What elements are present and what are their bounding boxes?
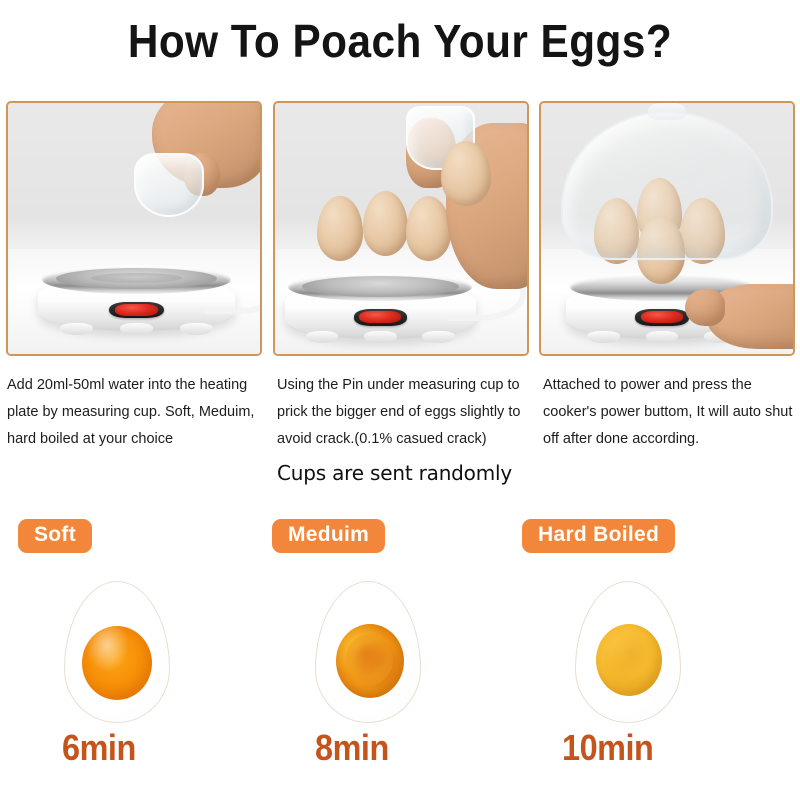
egg-cooker-water-photo (8, 103, 260, 354)
cooker-power-switch (635, 309, 689, 326)
page-title: How To Poach Your Eggs? (32, 14, 768, 68)
pricking-egg-photo (275, 103, 527, 354)
step-1-caption: Add 20ml-50ml water into the heating pla… (7, 372, 269, 453)
cups-random-note: Cups are sent randomly (277, 461, 512, 485)
dome-lid-knob (648, 103, 685, 120)
cooker-foot-right (422, 331, 455, 343)
doneness-badge-soft: Soft (18, 519, 92, 553)
cooker-foot-center (364, 331, 397, 343)
step-3-photo-panel (539, 101, 795, 356)
index-finger-tip (685, 289, 725, 327)
power-cord (205, 270, 260, 314)
measuring-cup (134, 153, 204, 217)
egg-in-tray (406, 196, 451, 261)
doneness-badge-hard-boiled: Hard Boiled (522, 519, 675, 553)
step-1-photo-panel (6, 101, 262, 356)
cooker-power-switch (354, 309, 408, 326)
step-2-caption: Using the Pin under measuring cup to pri… (277, 372, 539, 453)
pressing-power-button-photo (541, 103, 793, 354)
cooker-power-switch (109, 302, 164, 319)
egg-in-tray (317, 196, 362, 261)
cooker-egg-tray (302, 276, 459, 297)
steps-photo-row (6, 101, 795, 356)
cooker-foot-center (646, 331, 679, 343)
step-2-photo-panel (273, 101, 529, 356)
egg-cross-section-soft (64, 581, 170, 723)
egg-cross-section-medium (315, 581, 421, 723)
cooker-foot-left (587, 331, 620, 343)
cooker-foot-left (306, 331, 339, 343)
egg-cross-section-hard-boiled (575, 581, 681, 723)
time-label-hard-boiled: 10min (562, 727, 653, 769)
time-label-soft: 6min (62, 727, 136, 769)
doneness-chart: Soft 6min Meduim 8min Hard Boiled 10min (0, 519, 800, 789)
step-captions-row: Add 20ml-50ml water into the heating pla… (0, 372, 800, 462)
yolk-hard-boiled (596, 624, 662, 696)
doneness-column-hard-boiled: Hard Boiled 10min (500, 519, 766, 789)
doneness-column-medium: Meduim 8min (253, 519, 519, 789)
doneness-badge-medium: Meduim (272, 519, 385, 553)
time-label-medium: 8min (315, 727, 389, 769)
yolk-soft (82, 626, 152, 700)
doneness-column-soft: Soft 6min (0, 519, 266, 789)
yolk-medium (336, 624, 404, 698)
step-3-caption: Attached to power and press the cooker's… (543, 372, 795, 453)
cooker-heating-plate-center (91, 273, 181, 283)
egg-cooker-illustration (38, 221, 235, 331)
